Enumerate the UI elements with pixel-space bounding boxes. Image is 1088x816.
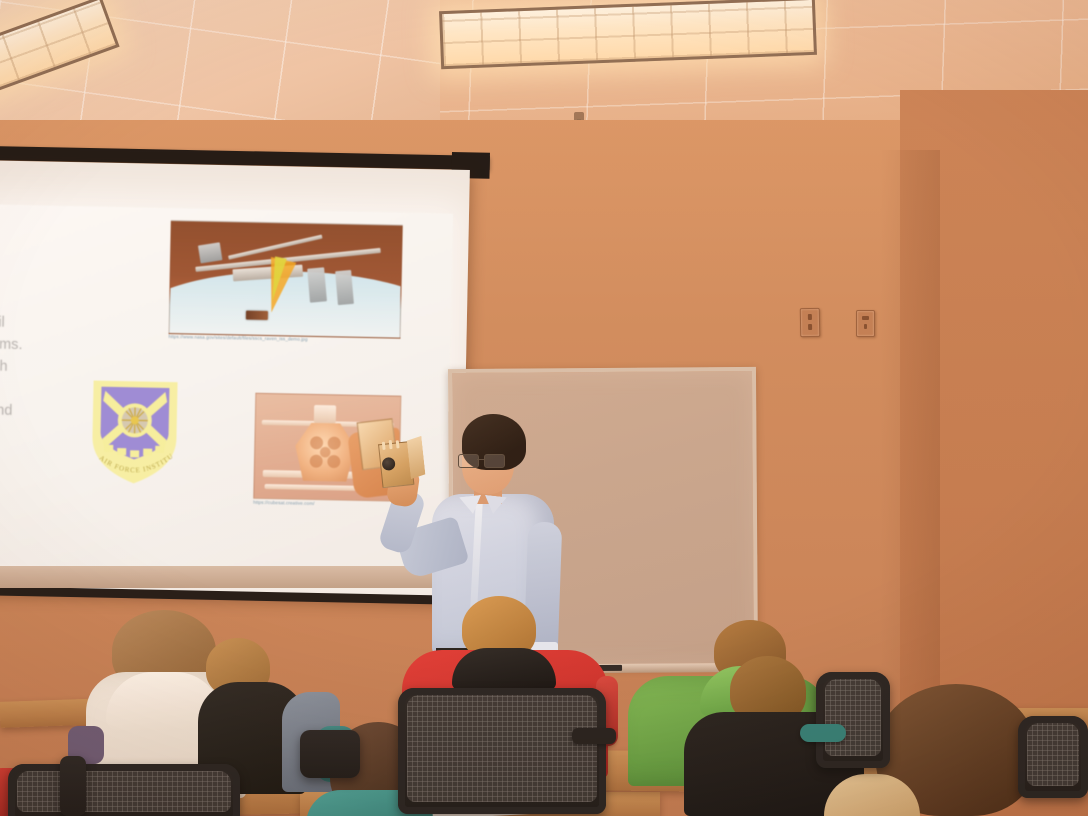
slide-body-line-4: er Space Research [0,356,8,375]
slide-body-line-6: tical Engineering and [0,400,13,419]
cubesat-model [378,436,427,488]
light-louvers [442,0,814,66]
slide-body-line-3: ing to Space Systems. [0,334,23,353]
slide-image-iss [169,220,403,339]
chair-left-partial[interactable] [300,730,360,778]
testbed-satellite [295,423,356,482]
wall-corner-shadow [880,150,940,710]
cubesat-in-orbit [246,311,268,320]
chair-right-armrest[interactable] [800,724,846,742]
electrical-outlet [800,308,821,337]
chair-right[interactable] [816,672,890,768]
presenter-glasses [458,454,512,467]
chair-center-armrest[interactable] [572,728,616,744]
iss-solar-panel-1 [307,267,327,302]
slide-body-line-2: s ranging from Civil [0,312,5,331]
iss-solar-panel-2 [335,270,354,305]
chair-far-right[interactable] [1018,716,1088,798]
student-red-hoodie-hood [452,648,556,690]
afit-shield-logo: AIR FORCE INSTITUTE OF TECHNOLOGY [85,374,183,488]
chair-center[interactable] [398,688,606,814]
classroom-presentation-photo: tion rs a variety of s ranging from Civi… [0,0,1088,816]
iss-radiator [198,242,223,263]
chair-front-left[interactable] [8,764,240,816]
light-switch[interactable] [856,310,875,337]
chair-edge-left[interactable] [60,756,86,816]
whiteboard-ledge-left [0,566,455,588]
